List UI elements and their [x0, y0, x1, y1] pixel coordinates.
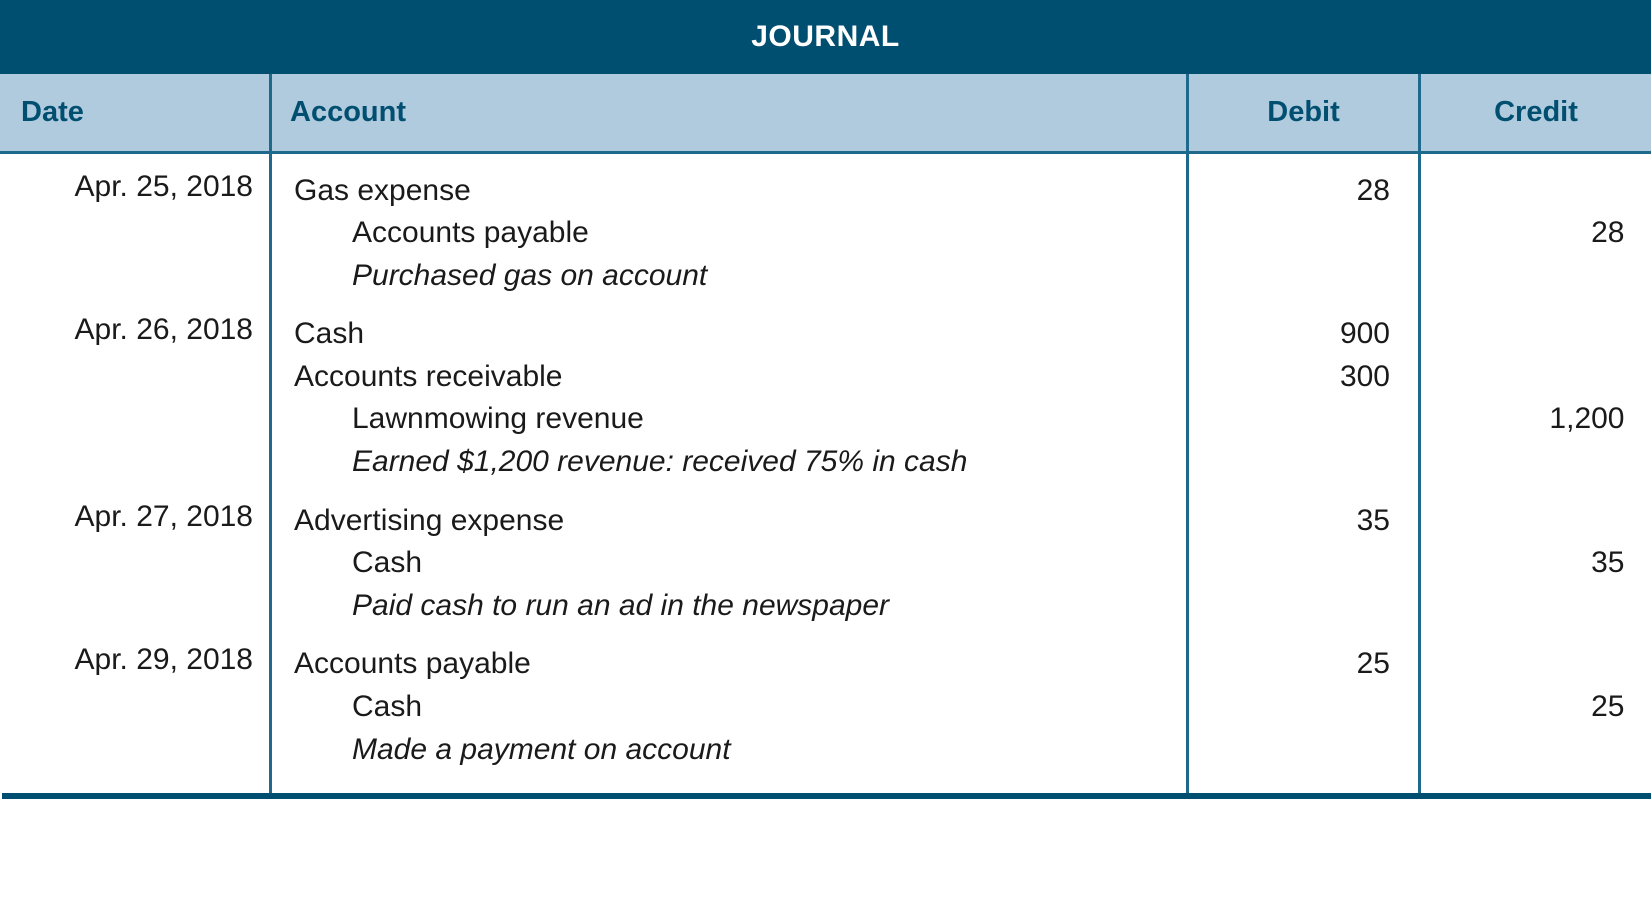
credit-amount	[1421, 643, 1625, 686]
entry-credit-amounts: 28	[1420, 152, 1651, 297]
credit-amount: 25	[1421, 686, 1625, 729]
entry-account-name: Accounts payable	[294, 212, 1186, 255]
credit-amount: 35	[1421, 542, 1625, 585]
debit-amount: 300	[1189, 356, 1390, 399]
journal-entry-row: Apr. 27, 2018Advertising expenseCashPaid…	[2, 484, 1651, 628]
entry-debit-amounts: 28	[1188, 152, 1420, 297]
journal-table: Date Account Debit Credit Apr. 25, 2018G…	[0, 74, 1651, 799]
credit-amount: 1,200	[1421, 398, 1625, 441]
entry-memo: Purchased gas on account	[294, 255, 1186, 298]
journal-entry-row: Apr. 29, 2018Accounts payableCashMade a …	[2, 627, 1651, 796]
debit-amount: 28	[1189, 170, 1390, 213]
debit-amount	[1189, 441, 1390, 484]
debit-amount	[1189, 729, 1390, 772]
entry-credit-amounts: 1,200	[1420, 297, 1651, 483]
credit-amount	[1421, 255, 1625, 298]
debit-amount	[1189, 255, 1390, 298]
debit-amount	[1189, 542, 1390, 585]
entry-account-name: Cash	[294, 313, 1186, 356]
debit-amount: 25	[1189, 643, 1390, 686]
journal-title-banner: JOURNAL	[0, 0, 1651, 74]
credit-amount	[1421, 356, 1625, 399]
entry-account-name: Advertising expense	[294, 500, 1186, 543]
credit-amount	[1421, 585, 1625, 628]
entry-date: Apr. 26, 2018	[2, 297, 271, 483]
entry-account-name: Gas expense	[294, 170, 1186, 213]
debit-amount: 35	[1189, 500, 1390, 543]
table-header: Date Account Debit Credit	[2, 74, 1651, 152]
entry-date: Apr. 25, 2018	[2, 152, 271, 297]
entry-memo: Earned $1,200 revenue: received 75% in c…	[294, 441, 1186, 484]
credit-amount	[1421, 313, 1625, 356]
entry-date: Apr. 29, 2018	[2, 627, 271, 796]
entry-account-name: Lawnmowing revenue	[294, 398, 1186, 441]
debit-amount	[1189, 212, 1390, 255]
entry-account-name: Accounts receivable	[294, 356, 1186, 399]
entry-credit-amounts: 35	[1420, 484, 1651, 628]
page-title: JOURNAL	[751, 20, 900, 54]
entry-memo: Paid cash to run an ad in the newspaper	[294, 585, 1186, 628]
column-header-credit: Credit	[1420, 74, 1651, 152]
entry-credit-amounts: 25	[1420, 627, 1651, 796]
column-header-debit: Debit	[1188, 74, 1420, 152]
journal-entry-row: Apr. 26, 2018CashAccounts receivableLawn…	[2, 297, 1651, 483]
entry-accounts: Gas expenseAccounts payablePurchased gas…	[271, 152, 1188, 297]
debit-amount	[1189, 398, 1390, 441]
journal-entry-row: Apr. 25, 2018Gas expenseAccounts payable…	[2, 152, 1651, 297]
entry-accounts: CashAccounts receivableLawnmowing revenu…	[271, 297, 1188, 483]
entry-accounts: Advertising expenseCashPaid cash to run …	[271, 484, 1188, 628]
entry-memo: Made a payment on account	[294, 729, 1186, 772]
credit-amount	[1421, 500, 1625, 543]
column-header-account: Account	[271, 74, 1188, 152]
entry-debit-amounts: 900300	[1188, 297, 1420, 483]
credit-amount: 28	[1421, 212, 1625, 255]
table-body: Apr. 25, 2018Gas expenseAccounts payable…	[2, 152, 1651, 796]
entry-account-name: Accounts payable	[294, 643, 1186, 686]
entry-date: Apr. 27, 2018	[2, 484, 271, 628]
journal-document: JOURNAL Date Account Debit Credit Apr. 2…	[0, 0, 1651, 912]
entry-account-name: Cash	[294, 542, 1186, 585]
debit-amount: 900	[1189, 313, 1390, 356]
entry-account-name: Cash	[294, 686, 1186, 729]
credit-amount	[1421, 170, 1625, 213]
debit-amount	[1189, 686, 1390, 729]
debit-amount	[1189, 585, 1390, 628]
entry-debit-amounts: 35	[1188, 484, 1420, 628]
credit-amount	[1421, 729, 1625, 772]
entry-debit-amounts: 25	[1188, 627, 1420, 796]
entry-accounts: Accounts payableCashMade a payment on ac…	[271, 627, 1188, 796]
credit-amount	[1421, 441, 1625, 484]
header-row: Date Account Debit Credit	[2, 74, 1651, 152]
column-header-date: Date	[2, 74, 271, 152]
